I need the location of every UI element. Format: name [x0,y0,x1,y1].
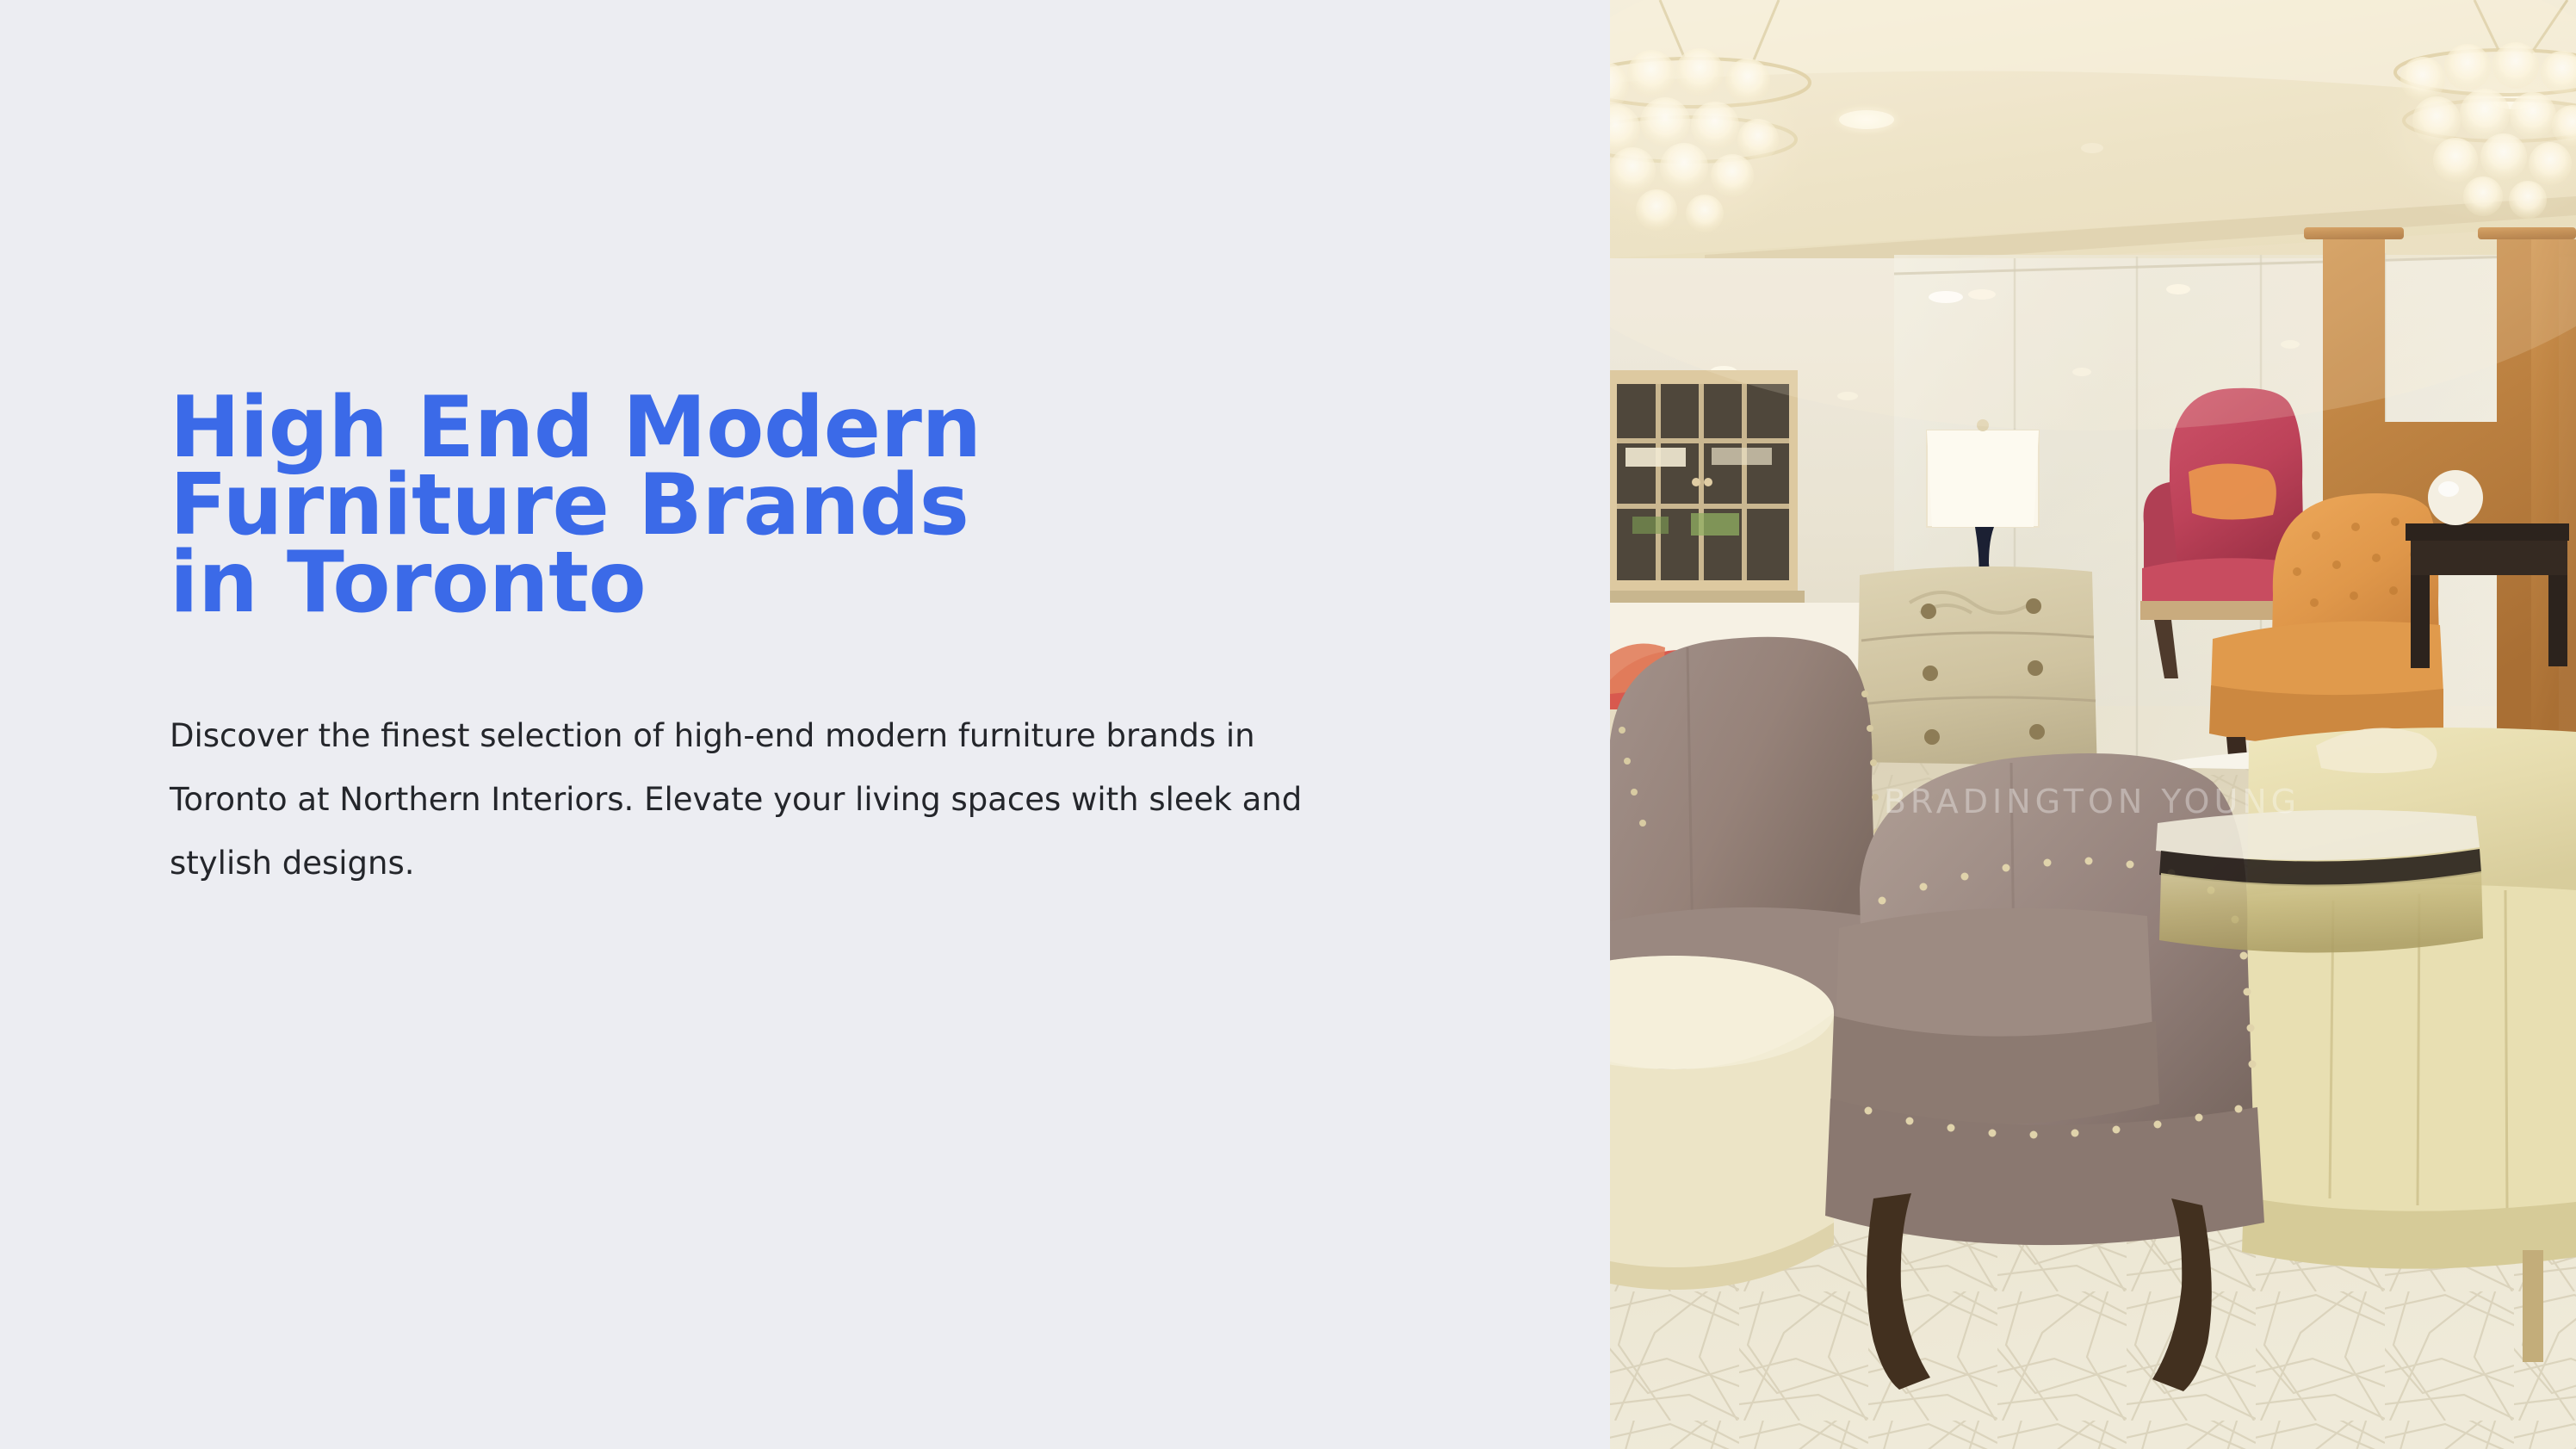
hero-image-panel: BRADINGTON YOUNG [1610,0,2576,1449]
image-watermark: BRADINGTON YOUNG [1884,783,2300,820]
hero-subtitle: Discover the finest selection of high-en… [170,704,1349,895]
hero-text-block: High End Modern Furniture Brands in Toro… [170,389,1375,895]
hero-section: High End Modern Furniture Brands in Toro… [0,0,2576,1449]
page-title: High End Modern Furniture Brands in Toro… [170,389,1375,622]
hero-text-panel: High End Modern Furniture Brands in Toro… [0,0,1610,1449]
showroom-photo: BRADINGTON YOUNG [1610,0,2576,1449]
